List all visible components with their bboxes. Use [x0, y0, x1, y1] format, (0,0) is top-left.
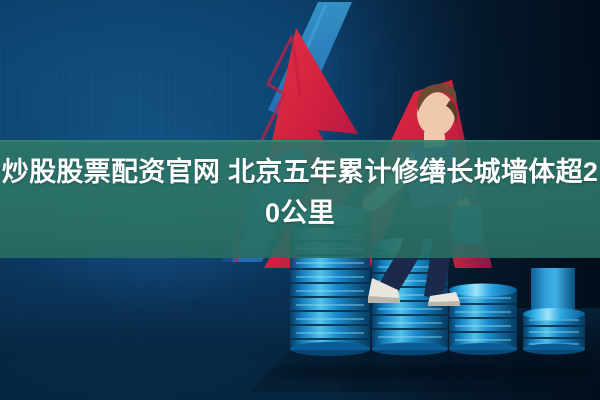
headline-line-2: 0公里 — [0, 193, 600, 234]
page-title: 炒股股票配资官网 北京五年累计修缮长城墙体超2 0公里 — [0, 152, 600, 234]
floor-shadows — [250, 350, 600, 392]
band-top-edge — [0, 140, 600, 142]
banner-image: 炒股股票配资官网 北京五年累计修缮长城墙体超2 0公里 — [0, 0, 600, 400]
headline-line-1: 炒股股票配资官网 北京五年累计修缮长城墙体超2 — [0, 152, 600, 193]
